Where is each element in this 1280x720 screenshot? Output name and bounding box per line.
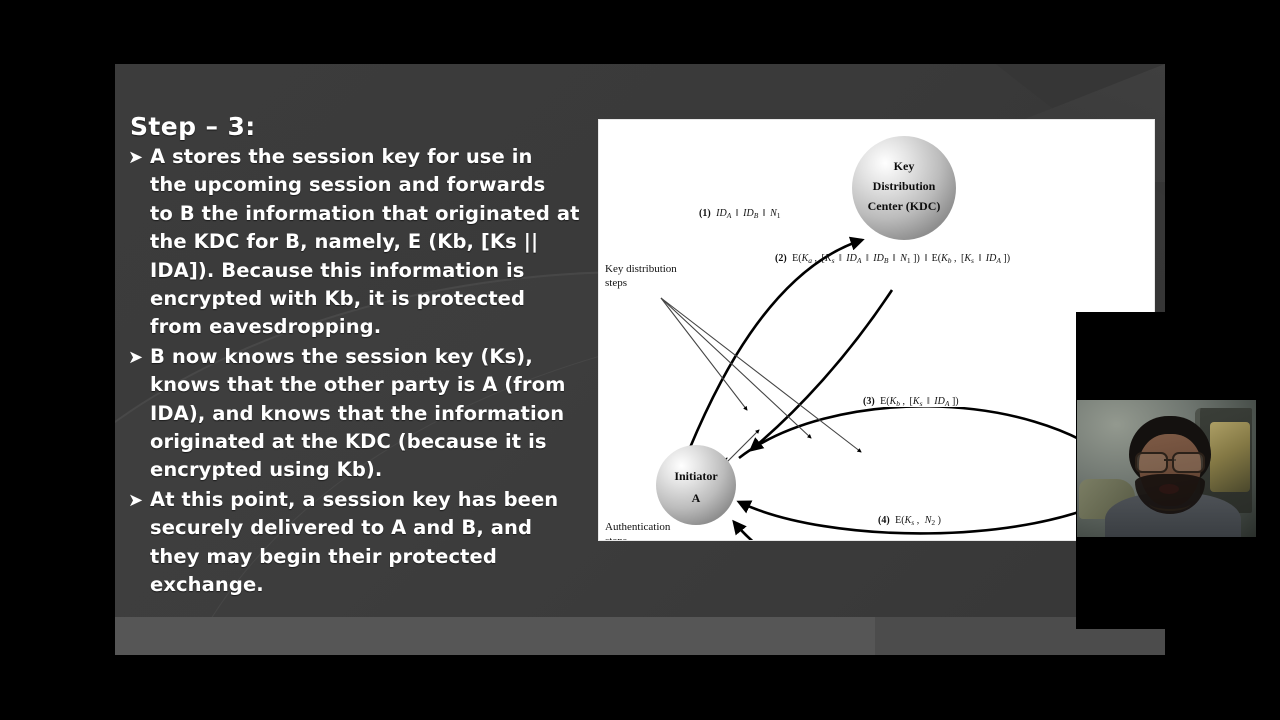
webcam-glasses-lens-right <box>1172 452 1205 473</box>
diagram-svg: Key Distribution Center (KDC) Initiator … <box>599 120 1154 540</box>
presentation-slide: Step – 3: ➤ A stores the session key for… <box>115 64 1165 655</box>
label-message-2: (2) E(Ka , [Ks ‖ IDA ‖ IDB ‖ N1 ]) ‖ E(K… <box>775 253 1010 266</box>
bullet-item: ➤ B now knows the session key (Ks), know… <box>126 343 606 485</box>
bullet-text-1: A stores the session key for use in the … <box>150 143 606 342</box>
bullet-text-3: At this point, a session key has been se… <box>150 486 606 600</box>
webcam-overlay-panel[interactable] <box>1076 312 1280 629</box>
label-message-3: (3) E(Kb , [Ks ‖ IDA ]) <box>857 393 981 409</box>
node-initiator-line-1: Initiator <box>674 469 718 483</box>
page-title: Step – 3: <box>130 112 606 141</box>
node-kdc-line-2: Distribution <box>873 179 936 193</box>
node-initiator-a: Initiator A <box>656 445 736 525</box>
bullet-item: ➤ A stores the session key for use in th… <box>126 143 606 342</box>
annotation-auth-line-1: Authentication <box>605 521 671 533</box>
label-message-1: (1) IDA ‖ IDB ‖ N1 <box>699 208 781 221</box>
svg-text:(1) IDA: (1) IDA ‖ IDB ‖ N1 <box>699 208 781 221</box>
slide-text-column: Step – 3: ➤ A stores the session key for… <box>126 112 606 601</box>
node-kdc-line-3: Center (KDC) <box>868 199 941 213</box>
annotation-kds-line-2: steps <box>605 277 627 289</box>
leader-key-distribution-steps <box>661 298 861 452</box>
node-initiator-line-2: A <box>692 491 701 505</box>
webcam-person-mouth <box>1159 484 1179 494</box>
node-kdc-line-1: Key <box>894 159 915 173</box>
arrow-message-1 <box>689 240 862 450</box>
annotation-kds-line-1: Key distribution <box>605 263 677 275</box>
webcam-glasses-lens-left <box>1135 452 1168 473</box>
bullet-text-2: B now knows the session key (Ks), knows … <box>150 343 606 485</box>
node-kdc: Key Distribution Center (KDC) <box>852 136 956 240</box>
bullet-arrow-icon: ➤ <box>126 343 150 371</box>
annotation-key-distribution-steps: Key distribution steps <box>605 263 677 289</box>
bullet-arrow-icon: ➤ <box>126 143 150 171</box>
svg-text:(2) E(Ka: (2) E(Ka , [Ks ‖ IDA ‖ IDB ‖ N1 ]) ‖ E(K… <box>775 253 1010 266</box>
webcam-window-glass <box>1210 422 1250 492</box>
kdc-protocol-diagram: Key Distribution Center (KDC) Initiator … <box>599 120 1154 540</box>
arrow-message-3 <box>739 406 1119 465</box>
webcam-person-glasses <box>1135 452 1205 469</box>
bullet-item: ➤ At this point, a session key has been … <box>126 486 606 600</box>
label-message-4: (4) E(Ks , N2 ) <box>872 512 956 528</box>
webcam-video-feed[interactable] <box>1077 400 1256 537</box>
arrow-message-2 <box>751 290 892 450</box>
annotation-authentication-steps: Authentication steps <box>605 521 671 540</box>
screen: Step – 3: ➤ A stores the session key for… <box>0 0 1280 720</box>
annotation-auth-line-2: steps <box>605 535 627 540</box>
bullet-arrow-icon: ➤ <box>126 486 150 514</box>
